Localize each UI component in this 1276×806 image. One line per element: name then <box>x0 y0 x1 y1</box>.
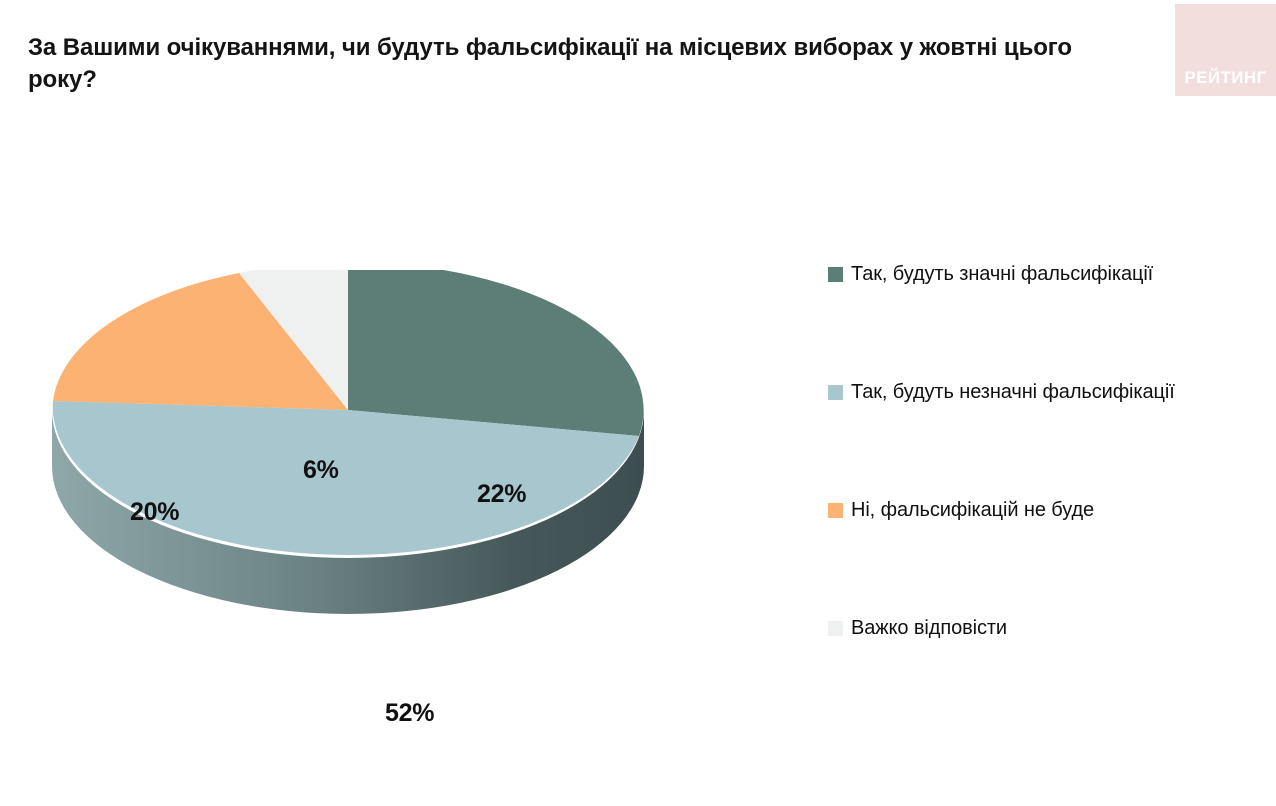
pie-slice-value-2: 20% <box>130 498 179 527</box>
legend-item-3[interactable]: Важко відповісти <box>828 616 1007 640</box>
legend-item-0[interactable]: Так, будуть значні фальсифікації <box>828 262 1153 286</box>
pie-chart-svg <box>30 270 730 710</box>
pie-chart: 22% 52% 20% 6% <box>0 150 800 750</box>
legend-label-2: Ні, фальсифікацій не буде <box>851 498 1094 522</box>
legend-label-3: Важко відповісти <box>851 616 1007 640</box>
legend-item-1[interactable]: Так, будуть незначні фальсифікації <box>828 380 1175 404</box>
legend-swatch-icon-1 <box>828 385 843 400</box>
page-title: За Вашими очікуваннями, чи будуть фальси… <box>28 32 1128 95</box>
pie-slice-value-1: 52% <box>385 699 434 728</box>
legend-label-0: Так, будуть значні фальсифікації <box>851 262 1153 286</box>
brand-logo: РЕЙТИНГ <box>1175 4 1276 96</box>
legend-swatch-icon-3 <box>828 621 843 636</box>
legend-item-2[interactable]: Ні, фальсифікацій не буде <box>828 498 1094 522</box>
pie-slice-0 <box>348 270 644 436</box>
legend-label-1: Так, будуть незначні фальсифікації <box>851 380 1175 404</box>
legend-swatch-icon-0 <box>828 267 843 282</box>
brand-logo-label: РЕЙТИНГ <box>1175 68 1276 88</box>
legend-swatch-icon-2 <box>828 503 843 518</box>
pie-slice-value-0: 22% <box>477 480 526 509</box>
pie-slice-value-3: 6% <box>303 456 339 485</box>
